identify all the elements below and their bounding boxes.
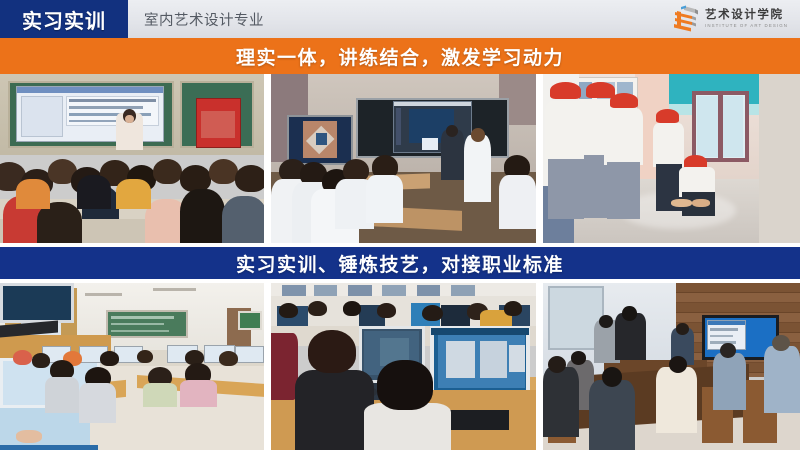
- logo-name-en: INSTITUTE OF ART DESIGN: [705, 24, 788, 28]
- photo-cad-lab-closeup: [271, 283, 535, 450]
- institute-logo: 艺术设计学院 INSTITUTE OF ART DESIGN: [670, 3, 788, 35]
- banner-orange: 理实一体，讲练结合，激发学习动力: [0, 38, 800, 74]
- photo-gap: [264, 283, 271, 450]
- photo-gap: [536, 283, 543, 450]
- photo-gap: [264, 74, 271, 243]
- art-design-institute-emblem-icon: [670, 4, 700, 34]
- logo-name-cn: 艺术设计学院: [705, 10, 788, 22]
- photo-construction-training: [543, 74, 800, 243]
- photo-row-1: [0, 74, 800, 243]
- photo-smart-classroom: [271, 74, 535, 243]
- header-subtitle: 室内艺术设计专业: [144, 0, 264, 38]
- photo-lecture-hall: [0, 74, 264, 243]
- page-title: 实习实训: [0, 0, 128, 38]
- photo-company-meeting: [543, 283, 800, 450]
- photo-gap: [536, 74, 543, 243]
- photo-computer-lab-wide: [0, 283, 264, 450]
- logo-text: 艺术设计学院 INSTITUTE OF ART DESIGN: [705, 10, 788, 28]
- banner-blue: 实习实训、锤炼技艺，对接职业标准: [0, 247, 800, 279]
- photo-row-2: [0, 283, 800, 450]
- page-header: 实习实训 室内艺术设计专业 艺术设计学院 INSTITUTE OF ART DE…: [0, 0, 800, 38]
